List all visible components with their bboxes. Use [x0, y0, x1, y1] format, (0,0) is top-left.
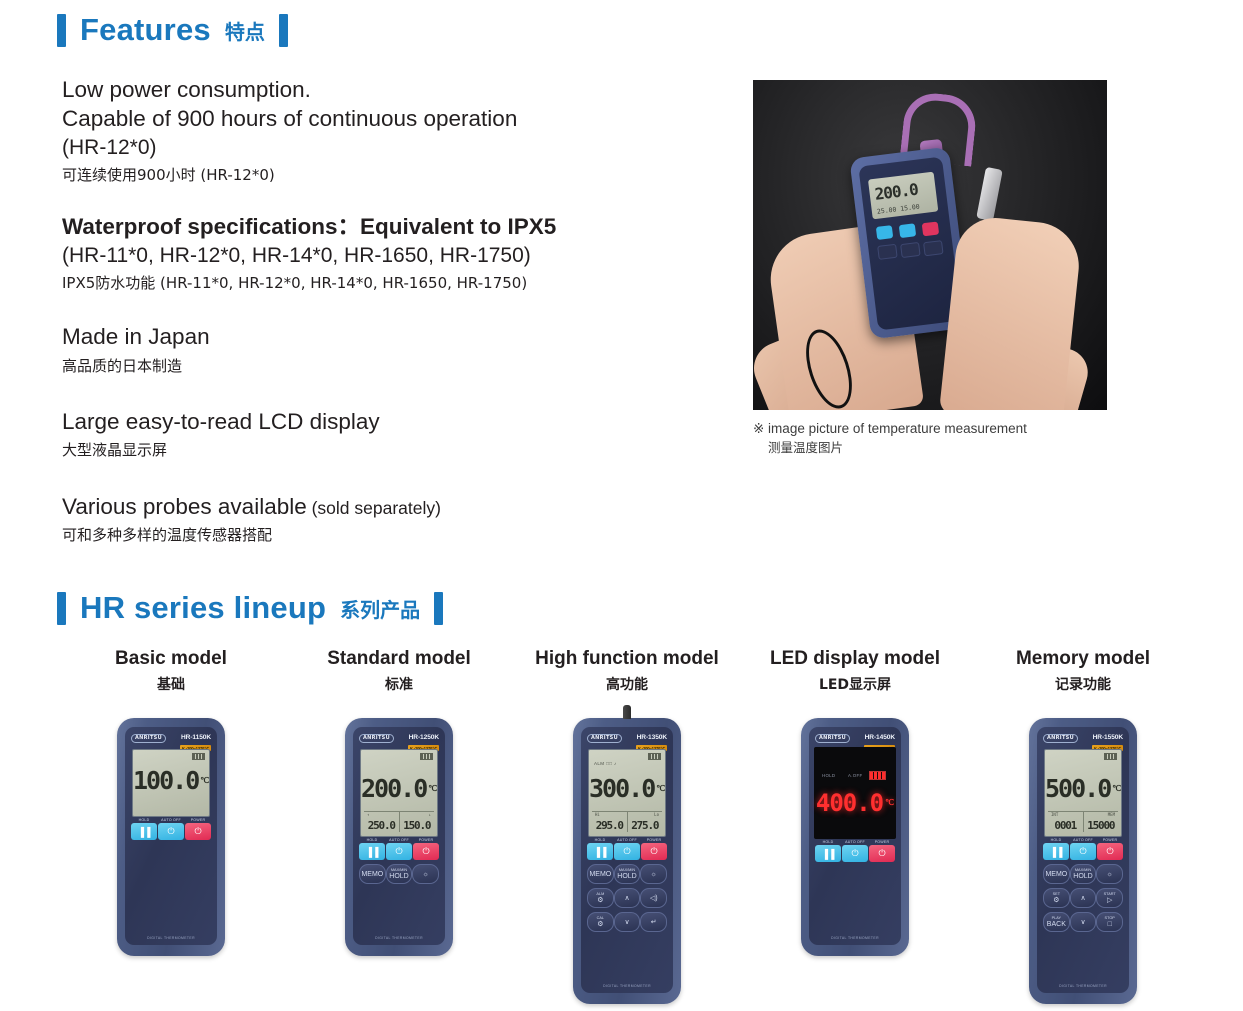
- key-hold[interactable]: HOLD▐▐: [815, 845, 841, 862]
- model-title-cn: 基础: [157, 674, 185, 694]
- feature-line-1: Waterproof specifications：Equivalent to …: [62, 212, 722, 241]
- anritsu-logo: ANRITSU: [359, 734, 394, 743]
- key-caption: HOLD: [131, 818, 157, 822]
- key-caption: AUTO OFF: [158, 818, 184, 822]
- lcd-sub-value-2: Lo275.0: [627, 812, 663, 832]
- key-caption: HOLD: [587, 838, 613, 842]
- feature-line-2: Capable of 900 hours of continuous opera…: [62, 104, 722, 133]
- key-label: HOLD: [389, 873, 408, 880]
- photo-lcd-subvalue: 25.00 15.00: [876, 203, 920, 216]
- key-label: ◁): [650, 895, 658, 902]
- photo-caption: ※ image picture of temperature measureme…: [753, 419, 1107, 457]
- device-keypad: HOLD▐▐AUTO OFF⏻POWER⏻: [815, 845, 895, 866]
- battery-icon: [869, 771, 886, 780]
- lcd-sub-row: ↑250.0↓150.0: [364, 811, 434, 832]
- device-hr-1150k: ANRITSUHR-1150KK -200~1370℃100.0℃HOLD▐▐A…: [117, 718, 225, 956]
- key-label: ↵: [651, 919, 657, 926]
- model-title-cn: LED显示屏: [819, 674, 891, 694]
- key-round-3-2[interactable]: ∨: [614, 912, 641, 932]
- device-footer-text: DIGITAL THERMOMETER: [353, 936, 445, 940]
- photo-button-hold: [876, 225, 893, 240]
- key-label: ☼: [650, 871, 656, 878]
- key-auto-off[interactable]: AUTO OFF⏻: [614, 843, 640, 860]
- key-round-3-1[interactable]: PLAYBACK: [1043, 912, 1070, 932]
- device-footer-text: DIGITAL THERMOMETER: [581, 984, 673, 988]
- model-column-3: High function model高功能ANRITSUHR-1350KK -…: [513, 648, 741, 1004]
- keypad-row-primary: HOLD▐▐AUTO OFF⏻POWER⏻: [587, 843, 667, 860]
- key-auto-off[interactable]: AUTO OFF⏻: [842, 845, 868, 862]
- key-glyph-icon: ▐▐: [138, 827, 151, 837]
- device-front-panel: ANRITSUHR-1550KK -200~1370℃500.0℃INT0001…: [1037, 727, 1129, 993]
- led-indicator-1: HOLD: [822, 773, 835, 778]
- key-glyph-icon: ⏻: [167, 826, 174, 837]
- key-caption: POWER: [185, 818, 211, 822]
- model-title-en: High function model: [535, 648, 719, 670]
- model-column-2: Standard model标准ANRITSUHR-1250KK -200~13…: [285, 648, 513, 1004]
- key-glyph-icon: ▐▐: [822, 849, 835, 859]
- lcd-sub-value-1: INT0001: [1048, 812, 1083, 832]
- photo-lcd-value: 200.0: [874, 180, 919, 204]
- feature-cn: 大型液晶显示屏: [62, 439, 722, 462]
- key-glyph-icon: ▐▐: [366, 847, 379, 857]
- lineup-section-heading: HR series lineup 系列产品: [57, 590, 443, 626]
- key-caption: POWER: [641, 838, 667, 842]
- battery-icon: [192, 753, 205, 760]
- model-title-en: LED display model: [770, 648, 940, 670]
- key-caption: HOLD: [815, 840, 841, 844]
- photo-button-light: [923, 240, 944, 256]
- key-round-2-2[interactable]: ∧: [614, 888, 641, 908]
- keypad-row-primary: HOLD▐▐AUTO OFF⏻POWER⏻: [1043, 843, 1123, 860]
- feature-item-low-power: Low power consumption. Capable of 900 ho…: [62, 75, 722, 186]
- device-keypad: HOLD▐▐AUTO OFF⏻POWER⏻MEMOMAX/MINHOLD☼: [359, 843, 439, 888]
- device-footer-text: DIGITAL THERMOMETER: [125, 936, 217, 940]
- lcd-sub-row: INT0001MEM15000: [1048, 811, 1118, 832]
- unit-label: ℃: [428, 784, 437, 793]
- device-brand-row: ANRITSUHR-1150KK -200~1370℃: [131, 732, 211, 745]
- device-brand-row: ANRITSUHR-1250KK -200~1370℃: [359, 732, 439, 745]
- battery-icon: [648, 753, 661, 760]
- key-auto-off[interactable]: AUTO OFF⏻: [386, 843, 412, 860]
- device-footer-text: DIGITAL THERMOMETER: [809, 936, 901, 940]
- device-hr-1550k: ANRITSUHR-1550KK -200~1370℃500.0℃INT0001…: [1029, 718, 1137, 1004]
- key-round-1-1[interactable]: MEMO: [1043, 864, 1070, 884]
- device-brand-row: ANRITSUHR-1450KK -200~1370℃: [815, 732, 895, 745]
- key-caption: POWER: [869, 840, 895, 844]
- photo-button-autooff: [899, 223, 916, 238]
- keypad-row-2: MEMOMAX/MINHOLD☼: [1043, 864, 1123, 884]
- key-round-2-3[interactable]: ◁): [640, 888, 667, 908]
- key-label: MEMO: [361, 871, 383, 878]
- key-power[interactable]: POWER⏻: [413, 843, 439, 860]
- lcd-main-value: 500.0℃: [1045, 776, 1121, 801]
- unit-label: ℃: [1112, 784, 1121, 793]
- led-main-value: 400.0℃: [814, 791, 896, 815]
- lcd-sub-text-1: 250.0: [368, 819, 395, 832]
- keypad-row-4: CAL⚙∨↵: [587, 912, 667, 932]
- lcd-sub-value-2: MEM15000: [1083, 812, 1119, 832]
- device-hr-1350k: ANRITSUHR-1350KK -200~1370℃ALM □□ ♪300.0…: [573, 718, 681, 1004]
- model-title-en: Memory model: [1016, 648, 1150, 670]
- key-glyph-icon: ⏻: [851, 848, 858, 859]
- unit-label: ℃: [885, 798, 894, 807]
- keypad-row-primary: HOLD▐▐AUTO OFF⏻POWER⏻: [359, 843, 439, 860]
- key-power[interactable]: POWER⏻: [185, 823, 211, 840]
- led-indicator-2: A.OFF: [848, 773, 862, 778]
- lcd-sub-text-1: 0001: [1054, 819, 1076, 832]
- key-caption: POWER: [413, 838, 439, 842]
- key-label: MEMO: [589, 871, 611, 878]
- battery-icon: [420, 753, 433, 760]
- antenna-icon: [623, 705, 631, 719]
- lineup-heading-en: HR series lineup: [80, 590, 326, 626]
- lcd-sub-tag-1: Hi: [595, 812, 600, 817]
- lcd-sub-text-2: 150.0: [403, 819, 430, 832]
- alarm-indicator-row: ALM □□ ♪: [594, 761, 617, 766]
- device-hr-1250k: ANRITSUHR-1250KK -200~1370℃200.0℃↑250.0↓…: [345, 718, 453, 956]
- lcd-sub-text-2: 15000: [1087, 819, 1114, 832]
- lcd-value-text: 200.0: [361, 774, 426, 803]
- lcd-main-value: 300.0℃: [589, 776, 665, 801]
- key-label: BACK: [1047, 921, 1066, 928]
- keypad-row-3: ALM⚙∧◁): [587, 888, 667, 908]
- anritsu-logo: ANRITSU: [587, 734, 622, 743]
- photo-button-memo: [877, 244, 898, 260]
- feature-line-1: Various probes available (sold separatel…: [62, 492, 722, 521]
- key-round-2-2[interactable]: ∧: [1070, 888, 1097, 908]
- key-glyph-icon: ⏻: [1106, 846, 1113, 857]
- device-model-number: HR-1350K: [637, 734, 667, 741]
- key-label: ▷: [1107, 897, 1112, 904]
- device-keypad: HOLD▐▐AUTO OFF⏻POWER⏻MEMOMAX/MINHOLD☼SET…: [1043, 843, 1123, 936]
- lcd-value-text: 100.0: [133, 766, 198, 795]
- device-model-number: HR-1150K: [181, 734, 211, 741]
- model-title-en: Basic model: [115, 648, 227, 670]
- key-round-1-1[interactable]: MEMO: [359, 864, 386, 884]
- keypad-row-primary: HOLD▐▐AUTO OFF⏻POWER⏻: [815, 845, 895, 862]
- device-model-number: HR-1550K: [1093, 734, 1123, 741]
- unit-label: ℃: [200, 776, 209, 785]
- device-hr-1450k: ANRITSUHR-1450KK -200~1370℃HOLDA.OFF400.…: [801, 718, 909, 956]
- key-glyph-icon: ⏻: [395, 846, 402, 857]
- key-glyph-icon: ⏻: [650, 846, 657, 857]
- lcd-sub-tag-1: ↑: [367, 812, 369, 817]
- key-label: HOLD: [617, 873, 636, 880]
- anritsu-logo: ANRITSU: [815, 734, 850, 743]
- heading-bar-left: [57, 592, 66, 625]
- lcd-sub-tag-2: ↓: [429, 812, 431, 817]
- key-label: ∧: [1080, 895, 1085, 902]
- key-round-3-3[interactable]: ↵: [640, 912, 667, 932]
- key-auto-off[interactable]: AUTO OFF⏻: [158, 823, 184, 840]
- lcd-main-value: 100.0℃: [133, 768, 209, 793]
- key-caption: AUTO OFF: [386, 838, 412, 842]
- heading-bar-right: [279, 14, 288, 47]
- lcd-sub-text-1: 295.0: [596, 819, 623, 832]
- anritsu-logo: ANRITSU: [1043, 734, 1078, 743]
- feature-line-1-main: Various probes available: [62, 494, 307, 519]
- key-label: ⚙: [597, 897, 603, 904]
- key-glyph-icon: ⏻: [878, 848, 885, 859]
- device-illustration-wrapper: ANRITSUHR-1450KK -200~1370℃HOLDA.OFF400.…: [801, 718, 909, 956]
- lcd-sub-tag-1: INT: [1051, 812, 1058, 817]
- heading-bar-left: [57, 14, 66, 47]
- lcd-sub-value-1: ↑250.0: [364, 812, 399, 832]
- key-round-3-3[interactable]: STOP□: [1096, 912, 1123, 932]
- key-label: ☼: [422, 871, 428, 878]
- key-round-1-1[interactable]: MEMO: [587, 864, 614, 884]
- key-label: ⚙: [1053, 897, 1059, 904]
- heading-bar-right: [434, 592, 443, 625]
- lcd-sub-tag-2: Lo: [654, 812, 659, 817]
- device-front-panel: ANRITSUHR-1350KK -200~1370℃ALM □□ ♪300.0…: [581, 727, 673, 993]
- keypad-row-2: MEMOMAX/MINHOLD☼: [359, 864, 439, 884]
- keypad-row-3: SET⚙∧START▷: [1043, 888, 1123, 908]
- key-glyph-icon: ⏻: [422, 846, 429, 857]
- device-model-number: HR-1450K: [865, 734, 895, 741]
- key-glyph-icon: ⏻: [623, 846, 630, 857]
- device-front-panel: ANRITSUHR-1250KK -200~1370℃200.0℃↑250.0↓…: [353, 727, 445, 945]
- device-front-panel: ANRITSUHR-1150KK -200~1370℃100.0℃HOLD▐▐A…: [125, 727, 217, 945]
- key-hold[interactable]: HOLD▐▐: [359, 843, 385, 860]
- anritsu-logo: ANRITSU: [131, 734, 166, 743]
- device-illustration-wrapper: ANRITSUHR-1150KK -200~1370℃100.0℃HOLD▐▐A…: [117, 718, 225, 956]
- key-label: HOLD: [1073, 873, 1092, 880]
- key-round-2-1[interactable]: SET⚙: [1043, 888, 1070, 908]
- device-keypad: HOLD▐▐AUTO OFF⏻POWER⏻: [131, 823, 211, 844]
- key-caption: AUTO OFF: [1070, 838, 1096, 842]
- key-hold[interactable]: HOLD▐▐: [1043, 843, 1069, 860]
- led-display: HOLDA.OFF400.0℃: [814, 747, 896, 839]
- model-title-cn: 高功能: [606, 674, 648, 694]
- features-section-heading: Features 特点: [57, 12, 288, 48]
- feature-item-made-in-japan: Made in Japan 高品质的日本制造: [62, 322, 722, 377]
- photo-button-maxmin: [900, 242, 921, 258]
- feature-item-lcd-display: Large easy-to-read LCD display 大型液晶显示屏: [62, 407, 722, 462]
- photo-button-power: [922, 221, 939, 236]
- key-label: ☼: [1106, 871, 1112, 878]
- lcd-main-value: 200.0℃: [361, 776, 437, 801]
- model-title-cn: 标准: [385, 674, 413, 694]
- device-front-panel: ANRITSUHR-1450KK -200~1370℃HOLDA.OFF400.…: [809, 727, 901, 945]
- lcd-display: 500.0℃INT0001MEM15000: [1044, 749, 1122, 837]
- device-brand-row: ANRITSUHR-1550KK -200~1370℃: [1043, 732, 1123, 745]
- photo-caption-cn: 测量温度图片: [768, 439, 1107, 457]
- lcd-sub-row: Hi295.0Lo275.0: [592, 811, 662, 832]
- lcd-display: 200.0℃↑250.0↓150.0: [360, 749, 438, 837]
- key-power[interactable]: POWER⏻: [1097, 843, 1123, 860]
- unit-label: ℃: [656, 784, 665, 793]
- keypad-row-4: PLAYBACK∨STOP□: [1043, 912, 1123, 932]
- keypad-row-primary: HOLD▐▐AUTO OFF⏻POWER⏻: [131, 823, 211, 840]
- device-illustration-wrapper: ANRITSUHR-1250KK -200~1370℃200.0℃↑250.0↓…: [345, 718, 453, 956]
- led-value-text: 400.0: [816, 789, 883, 817]
- keypad-row-2: MEMOMAX/MINHOLD☼: [587, 864, 667, 884]
- feature-cn: 可和多种多样的温度传感器搭配: [62, 524, 722, 547]
- key-caption: HOLD: [1043, 838, 1069, 842]
- key-power[interactable]: POWER⏻: [869, 845, 895, 862]
- key-hold[interactable]: HOLD▐▐: [131, 823, 157, 840]
- lcd-value-text: 300.0: [589, 774, 654, 803]
- feature-item-waterproof: Waterproof specifications：Equivalent to …: [62, 212, 722, 294]
- key-caption: POWER: [1097, 838, 1123, 842]
- feature-cn: 高品质的日本制造: [62, 355, 722, 378]
- lcd-display: ALM □□ ♪300.0℃Hi295.0Lo275.0: [588, 749, 666, 837]
- key-round-1-3[interactable]: ☼: [640, 864, 667, 884]
- feature-cn: IPX5防水功能 (HR-11*0, HR-12*0, HR-14*0, HR-…: [62, 272, 722, 295]
- key-round-2-3[interactable]: START▷: [1096, 888, 1123, 908]
- key-round-3-1[interactable]: CAL⚙: [587, 912, 614, 932]
- feature-cn: 可连续使用900小时 (HR-12*0): [62, 164, 722, 187]
- key-glyph-icon: ⏻: [1079, 846, 1086, 857]
- hr-series-lineup: Basic model基础ANRITSUHR-1150KK -200~1370℃…: [57, 648, 1197, 1004]
- key-glyph-icon: ▐▐: [594, 847, 607, 857]
- lineup-heading-cn: 系列产品: [340, 594, 420, 623]
- key-glyph-icon: ▐▐: [1050, 847, 1063, 857]
- features-heading-cn: 特点: [225, 16, 265, 45]
- feature-line-1: Made in Japan: [62, 322, 722, 351]
- key-caption: AUTO OFF: [614, 838, 640, 842]
- key-round-1-2[interactable]: MAX/MINHOLD: [1070, 864, 1097, 884]
- device-keypad: HOLD▐▐AUTO OFF⏻POWER⏻MEMOMAX/MINHOLD☼ALM…: [587, 843, 667, 936]
- model-column-1: Basic model基础ANRITSUHR-1150KK -200~1370℃…: [57, 648, 285, 1004]
- key-round-1-2[interactable]: MAX/MINHOLD: [614, 864, 641, 884]
- model-column-4: LED display modelLED显示屏ANRITSUHR-1450KK …: [741, 648, 969, 1004]
- key-label: □: [1108, 921, 1112, 928]
- key-label: ⚙: [597, 921, 603, 928]
- feature-line-1-note: (sold separately): [307, 498, 441, 518]
- features-heading-en: Features: [80, 12, 211, 48]
- device-illustration-wrapper: ANRITSUHR-1350KK -200~1370℃ALM □□ ♪300.0…: [573, 718, 681, 1004]
- key-label: ∨: [1080, 919, 1085, 926]
- key-round-1-3[interactable]: ☼: [1096, 864, 1123, 884]
- key-power[interactable]: POWER⏻: [641, 843, 667, 860]
- device-brand-row: ANRITSUHR-1350KK -200~1370℃: [587, 732, 667, 745]
- feature-line-1: Low power consumption.: [62, 75, 722, 104]
- key-hold[interactable]: HOLD▐▐: [587, 843, 613, 860]
- product-photo-block: 200.0 25.00 15.00 ※ image picture of tem…: [753, 80, 1107, 457]
- key-round-3-2[interactable]: ∨: [1070, 912, 1097, 932]
- model-title-cn: 记录功能: [1055, 674, 1111, 694]
- key-caption: HOLD: [359, 838, 385, 842]
- feature-line-1: Large easy-to-read LCD display: [62, 407, 722, 436]
- device-footer-text: DIGITAL THERMOMETER: [1037, 984, 1129, 988]
- lcd-value-text: 500.0: [1045, 774, 1110, 803]
- key-auto-off[interactable]: AUTO OFF⏻: [1070, 843, 1096, 860]
- photo-thermometer-face: 200.0 25.00 15.00: [858, 156, 961, 330]
- key-label: MEMO: [1045, 871, 1067, 878]
- model-column-5: Memory model记录功能ANRITSUHR-1550KK -200~13…: [969, 648, 1197, 1004]
- temperature-measurement-photo: 200.0 25.00 15.00: [753, 80, 1107, 410]
- key-glyph-icon: ⏻: [194, 826, 201, 837]
- key-round-1-2[interactable]: MAX/MINHOLD: [386, 864, 413, 884]
- lcd-sub-value-1: Hi295.0: [592, 812, 627, 832]
- device-model-number: HR-1250K: [409, 734, 439, 741]
- lcd-sub-tag-2: MEM: [1108, 812, 1115, 817]
- features-list: Low power consumption. Capable of 900 ho…: [62, 75, 722, 569]
- key-label: ∧: [624, 895, 629, 902]
- feature-line-3: (HR-12*0): [62, 134, 722, 161]
- key-label: ∨: [624, 919, 629, 926]
- photo-right-hand: [939, 214, 1083, 410]
- model-title-en: Standard model: [327, 648, 471, 670]
- photo-probe-tip: [976, 167, 1003, 221]
- key-round-1-3[interactable]: ☼: [412, 864, 439, 884]
- battery-icon: [1104, 753, 1117, 760]
- feature-line-2: (HR-11*0, HR-12*0, HR-14*0, HR-1650, HR-…: [62, 242, 722, 269]
- key-caption: AUTO OFF: [842, 840, 868, 844]
- device-illustration-wrapper: ANRITSUHR-1550KK -200~1370℃500.0℃INT0001…: [1029, 718, 1137, 1004]
- key-round-2-1[interactable]: ALM⚙: [587, 888, 614, 908]
- lcd-sub-value-2: ↓150.0: [399, 812, 435, 832]
- feature-item-probes: Various probes available (sold separatel…: [62, 492, 722, 547]
- lcd-display: 100.0℃: [132, 749, 210, 817]
- lcd-sub-text-2: 275.0: [631, 819, 658, 832]
- photo-caption-en: ※ image picture of temperature measureme…: [753, 419, 1107, 439]
- photo-thermometer-lcd: 200.0 25.00 15.00: [868, 172, 938, 220]
